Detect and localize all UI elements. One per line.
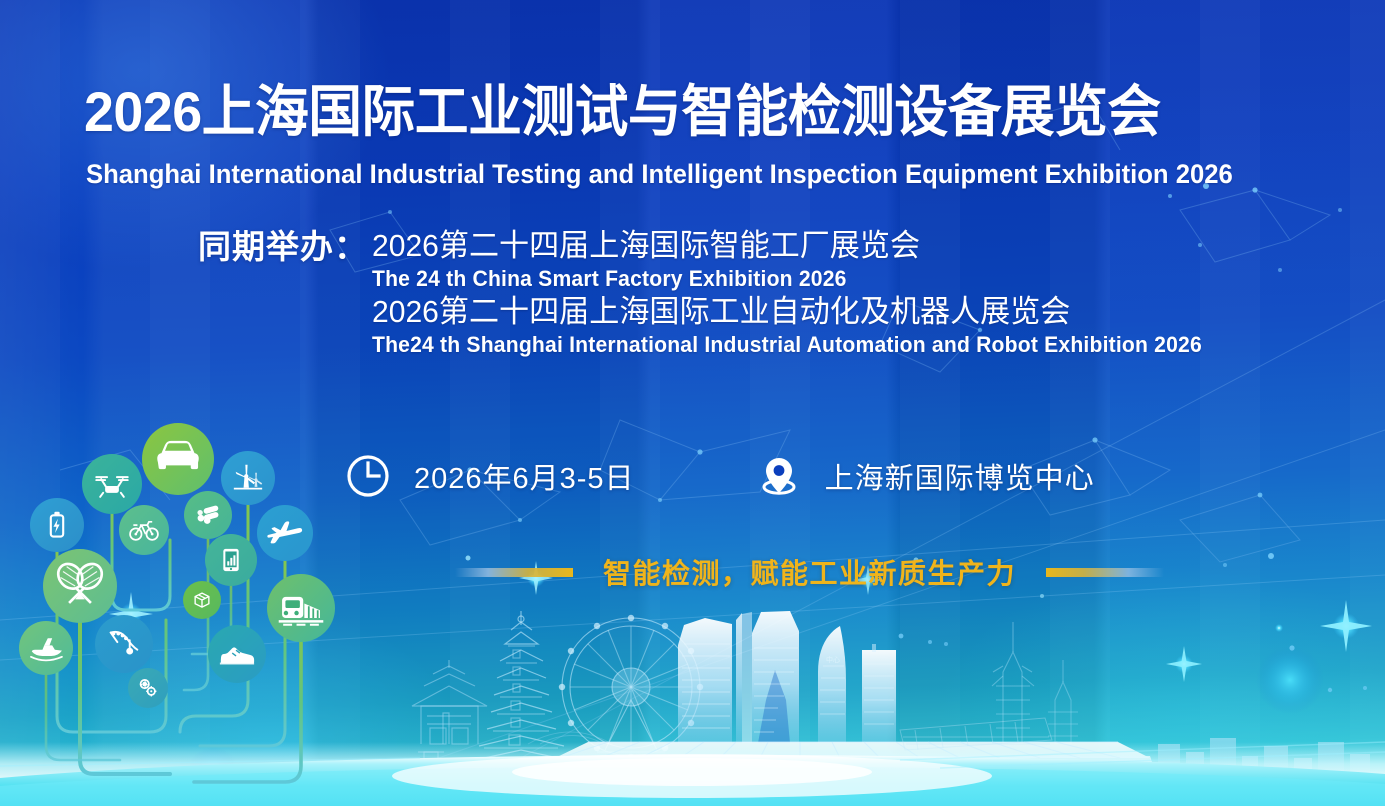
concurrent-events-list: 2026第二十四届上海国际智能工厂展览会 The 24 th China Sma… [372, 228, 1237, 359]
event-date: 2026年6月3-5日 [414, 455, 635, 497]
landmark-ferris-wheel [559, 615, 703, 760]
landmark-expo-canopy [552, 742, 1152, 800]
page-title: 2026上海国际工业测试与智能检测设备展览会 [84, 83, 1322, 142]
icon-tree-node-gears[interactable]: 齿轮 [128, 668, 168, 708]
icon-tree-node-car[interactable]: 汽车 [142, 423, 214, 495]
sparkle-stars [109, 556, 1372, 800]
exhibition-banner: 中心 [0, 0, 1385, 806]
tablet-icon [223, 549, 238, 571]
event-info-bar: 2026年6月3-5日 上海新国际博览中心 [344, 452, 1095, 500]
wind-turbine-icon [234, 465, 262, 489]
event-venue: 上海新国际博览中心 [825, 455, 1095, 497]
background-glow-bottom-right [925, 560, 1385, 806]
landmark-curved-tower: 中心 [818, 626, 846, 743]
landmark-right-city-blocks [1158, 738, 1370, 790]
icon-tree-node-tablet[interactable]: 终端 [205, 534, 257, 586]
page-subtitle-english: Shanghai International Industrial Testin… [86, 160, 1312, 190]
icon-tree-node-logs[interactable]: 原材料 [184, 491, 232, 539]
landmark-left-structures [528, 732, 612, 768]
landmark-right-roof-trusses [900, 718, 1052, 750]
event-venue-item: 上海新国际博览中心 [755, 452, 1095, 500]
icon-tree-node-bicycle[interactable]: 自行车 [119, 505, 169, 555]
car-icon [157, 441, 198, 469]
icon-tree-stems [46, 459, 301, 806]
landmark-pagoda-tower [466, 611, 577, 772]
fishing-icon [111, 632, 138, 655]
concurrent-events: 同期举办： 2026第二十四届上海国际智能工厂展览会 The 24 th Chi… [198, 228, 1237, 359]
icon-tree-node-airplane[interactable]: 航空 [257, 505, 313, 561]
background-glow-bottom-left [60, 600, 480, 806]
icon-tree-node-jetski[interactable]: 摩托艇 [19, 621, 73, 675]
slogan-rule-right [1046, 568, 1164, 577]
tennis-icon [53, 559, 106, 603]
train-icon [279, 597, 324, 625]
icon-tree-node-shoe[interactable]: 鞋服 [208, 625, 266, 683]
concurrent-event-2-cn: 2026第二十四届上海国际工业自动化及机器人展览会 [372, 294, 1211, 330]
horizon-and-sea [0, 742, 1385, 806]
icon-tree-node-train[interactable]: 轨道交通 [267, 574, 335, 642]
landmark-slab-tower [862, 644, 896, 743]
icon-tree-node-battery[interactable]: 电池 [30, 498, 84, 552]
icon-tree-node-package[interactable]: 物流 [183, 581, 221, 619]
drone-icon [96, 477, 127, 497]
canopy-supports [576, 762, 1140, 800]
skyline-group: 中心 [412, 611, 1370, 800]
concurrent-event-1-cn: 2026第二十四届上海国际智能工厂展览会 [372, 228, 1211, 264]
package-icon [195, 593, 209, 607]
concurrent-event-2-en: The24 th Shanghai International Industri… [372, 330, 1202, 360]
event-date-item: 2026年6月3-5日 [344, 452, 635, 500]
landmark-gate-tower [678, 611, 799, 743]
landmark-spire-tower-right [1048, 660, 1078, 743]
landmark-spire-tower-left [992, 622, 1034, 743]
slogan-row: 智能检测，赋能工业新质生产力 [455, 552, 1164, 592]
battery-icon [51, 512, 63, 537]
icon-tree-node-tennis[interactable]: 网球 [43, 549, 117, 623]
shoe-icon [220, 647, 254, 663]
landmark-pagoda-temple [412, 660, 487, 766]
slogan-text: 智能检测，赋能工业新质生产力 [573, 552, 1046, 592]
clock-icon [344, 452, 392, 500]
concurrent-event-1-en: The 24 th China Smart Factory Exhibition… [372, 264, 1202, 294]
logs-icon [197, 505, 219, 524]
jetski-icon [31, 638, 62, 660]
gears-icon [140, 680, 155, 696]
slogan-rule-left [455, 568, 573, 577]
location-pin-icon [755, 452, 803, 500]
airplane-icon [267, 521, 302, 543]
concurrent-events-label: 同期举办： [198, 228, 368, 263]
icon-tree-node-drone[interactable]: 无人机 [82, 454, 142, 514]
svg-text:中心: 中心 [826, 655, 840, 664]
horizon-streaks [0, 742, 1385, 768]
bicycle-icon [130, 522, 158, 540]
icon-tree-node-fishing[interactable]: 钓鱼 [95, 615, 153, 673]
icon-tree-node-wind-turbine[interactable]: 风电 [221, 451, 275, 505]
